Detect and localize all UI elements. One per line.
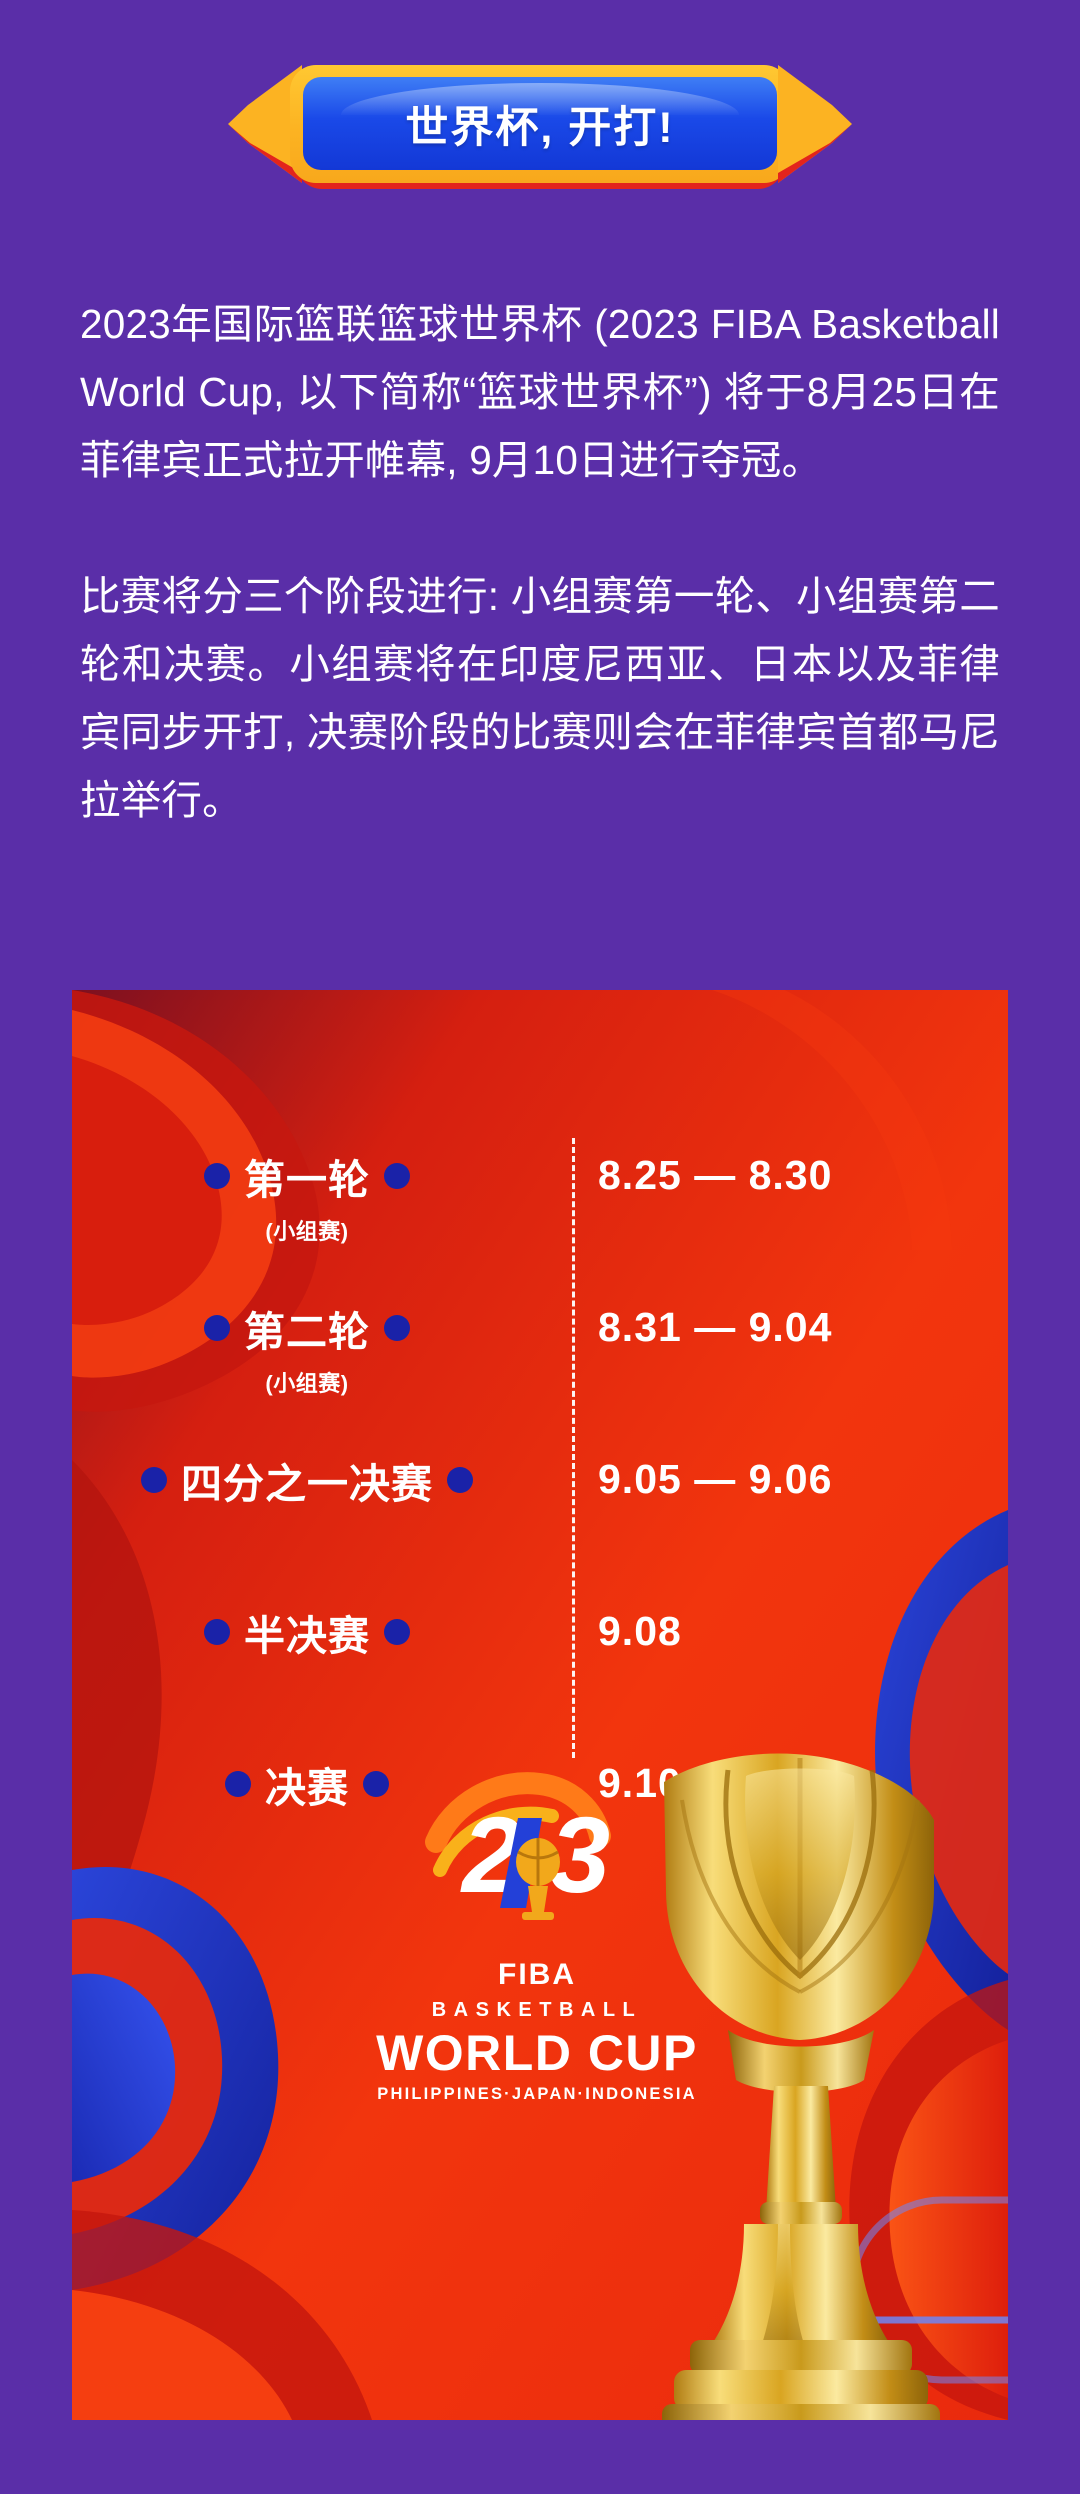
bullet-dot-icon xyxy=(204,1315,230,1341)
schedule-row: 第二轮 (小组赛) 8.31 — 9.04 xyxy=(72,1292,1008,1444)
stage-name: 四分之一决赛 xyxy=(181,1450,433,1510)
schedule-stage-cell: 四分之一决赛 xyxy=(72,1444,542,1510)
schedule-row: 四分之一决赛 9.05 — 9.06 xyxy=(72,1444,1008,1596)
banner-title: 世界杯, 开打! xyxy=(405,93,674,155)
stage-name: 第二轮 xyxy=(244,1298,370,1358)
page-edge-marker xyxy=(1062,1965,1080,1971)
bullet-dot-icon xyxy=(204,1163,230,1189)
stage-date: 8.31 — 9.04 xyxy=(542,1292,1008,1351)
stage-name: 第一轮 xyxy=(244,1146,370,1206)
stage-name: 半决赛 xyxy=(244,1602,370,1662)
ribbon: 世界杯, 开打! xyxy=(290,65,790,183)
paragraph-1: 2023年国际篮联篮球世界杯 (2023 FIBA Basketball Wor… xyxy=(80,290,1000,494)
schedule-stage-cell: 第二轮 (小组赛) xyxy=(72,1292,542,1398)
bullet-dot-icon xyxy=(447,1467,473,1493)
article-body: 2023年国际篮联篮球世界杯 (2023 FIBA Basketball Wor… xyxy=(80,290,1000,834)
bullet-dot-icon xyxy=(225,1771,251,1797)
schedule-stage-cell: 半决赛 xyxy=(72,1596,542,1662)
stage-name: 决赛 xyxy=(265,1754,349,1814)
trophy-illustration xyxy=(578,1740,1008,2420)
bullet-dot-icon xyxy=(141,1467,167,1493)
bullet-dot-icon xyxy=(204,1619,230,1645)
schedule-row: 第一轮 (小组赛) 8.25 — 8.30 xyxy=(72,1140,1008,1292)
tournament-poster: 第一轮 (小组赛) 8.25 — 8.30 第二轮 (小组赛) 8.31 — 9… xyxy=(72,990,1008,2420)
stage-note: (小组赛) xyxy=(72,1366,542,1398)
stage-date: 9.08 xyxy=(542,1596,1008,1655)
schedule-stage-cell: 第一轮 (小组赛) xyxy=(72,1140,542,1246)
ribbon-right-wing-icon xyxy=(778,65,852,183)
schedule-row: 半决赛 9.08 xyxy=(72,1596,1008,1748)
paragraph-2: 比赛将分三个阶段进行: 小组赛第一轮、小组赛第二轮和决赛。小组赛将在印度尼西亚、… xyxy=(80,562,1000,834)
bullet-dot-icon xyxy=(384,1619,410,1645)
bullet-dot-icon xyxy=(384,1163,410,1189)
stage-note: (小组赛) xyxy=(72,1214,542,1246)
stage-date: 8.25 — 8.30 xyxy=(542,1140,1008,1199)
schedule-dashed-divider xyxy=(572,1138,575,1758)
bullet-dot-icon xyxy=(384,1315,410,1341)
header-banner: 世界杯, 开打! xyxy=(0,34,1080,214)
stage-date: 9.05 — 9.06 xyxy=(542,1444,1008,1503)
